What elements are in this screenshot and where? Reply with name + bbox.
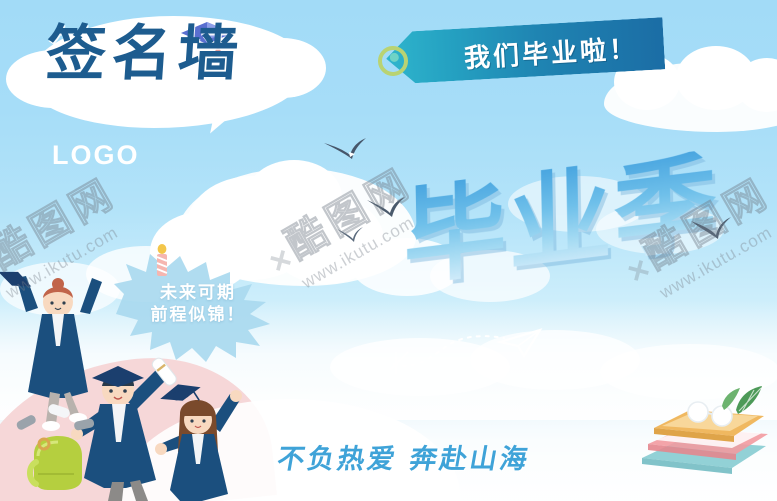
wish-text: 未来可期 前程似锦！ [122,282,274,326]
wish-splash-bubble: 未来可期 前程似锦！ [122,262,274,354]
page-title: 签名墙 [44,22,298,86]
tossed-cap-icon [158,381,204,409]
wish-line-1: 未来可期 [122,282,274,304]
backpack-icon [24,432,90,494]
logo-placeholder: LOGO [52,140,140,171]
graduation-poster: 毕业季 签名墙 LOGO 我们毕业啦！ [0,0,777,501]
book-stack-icon [636,386,776,482]
wish-line-2: 前程似锦！ [122,304,274,326]
bottom-tagline: 不负热爱 奔赴山海 [275,437,534,476]
candle-icon [154,244,170,278]
wordart-graduation-season: 毕业季 [402,148,719,291]
swallow-bird-icon [690,216,732,242]
swallow-bird-icon [322,137,368,163]
sparkle-icon [386,348,416,378]
swallow-bird-icon [366,196,406,220]
tossed-cap-icon [0,268,34,294]
swallow-bird-icon [336,226,364,244]
cloud-puff [246,160,342,234]
